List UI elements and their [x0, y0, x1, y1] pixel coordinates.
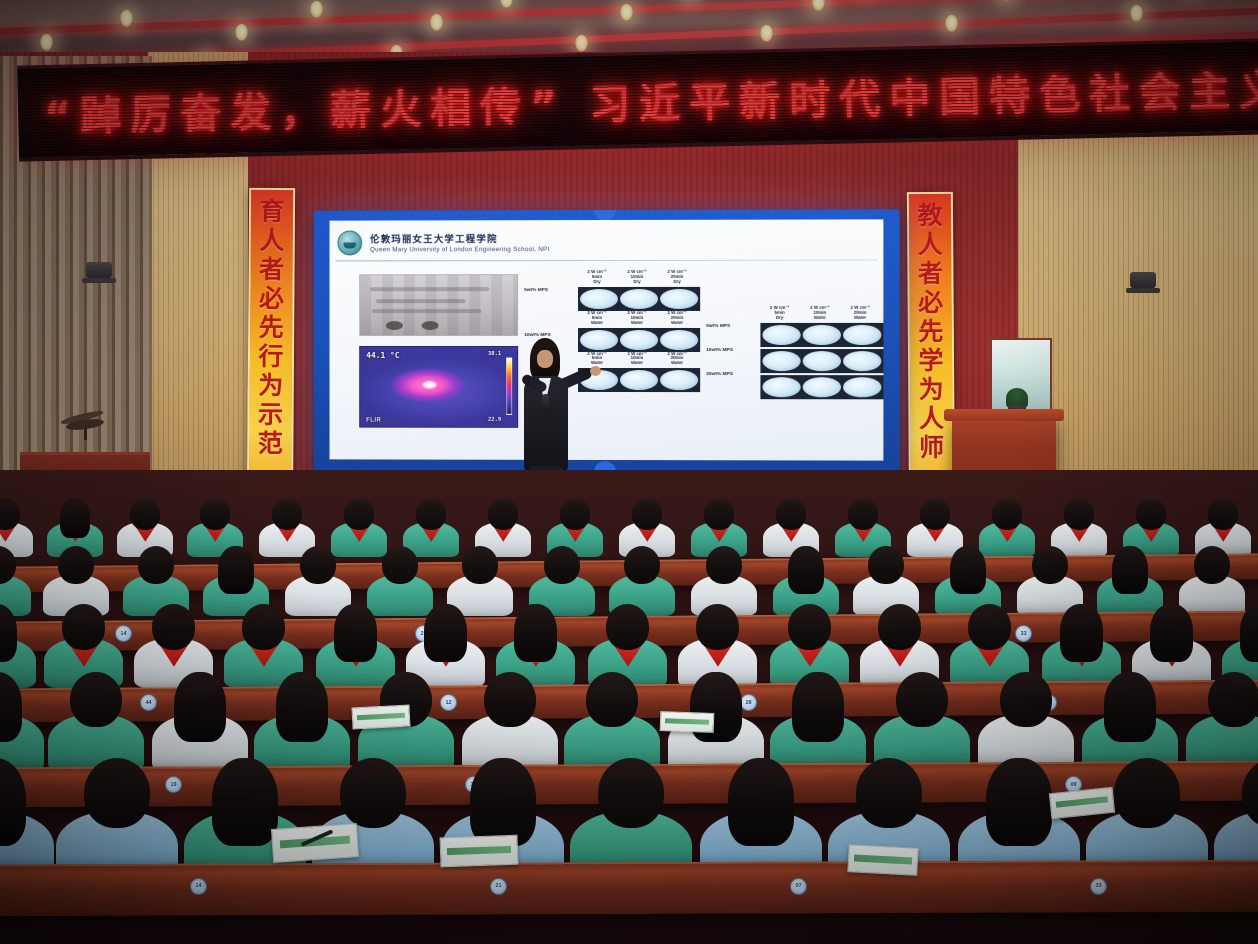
banner-character: 为 [258, 372, 283, 399]
sample-disc [620, 370, 658, 390]
student-head [174, 672, 226, 742]
grid-row-label: 0wt% MPS [524, 288, 548, 293]
flir-watermark: FLIR [366, 418, 381, 424]
student-head [920, 498, 950, 530]
student-head [896, 672, 948, 727]
right-sample-grid: 2 W cm⁻²5minDry2 W cm⁻²10minWater2 W cm⁻… [760, 306, 883, 399]
sample-disc [843, 351, 881, 371]
thermal-scale-min: 22.9 [488, 417, 501, 423]
banner-character: 行 [258, 343, 283, 370]
banner-character: 者 [259, 256, 284, 283]
grid-column-label: 2 W cm⁻²20minWater [841, 306, 879, 321]
student-head [598, 758, 664, 828]
student-head [276, 672, 328, 742]
thermal-temperature-reading: 44.1 °C [366, 351, 399, 360]
banner-character: 先 [259, 314, 284, 341]
sample-disc [762, 377, 800, 397]
student-booklet [351, 704, 410, 729]
grid-column-headers: 2 W cm⁻²5minDry2 W cm⁻²10minWater2 W cm⁻… [760, 306, 883, 321]
student-head [868, 546, 904, 584]
banner-character: 人 [259, 227, 284, 254]
student-head [242, 604, 285, 650]
grid-column-headers: 2 W cm⁻²5minWater2 W cm⁻²10minWater2 W c… [578, 352, 700, 367]
grid-column-headers: 2 W cm⁻²5minDry2 W cm⁻²10minDry2 W cm⁻²2… [578, 270, 700, 285]
thermal-scale-max: 38.1 [488, 351, 501, 357]
student-head [1032, 546, 1068, 584]
student-head [586, 672, 638, 727]
podium-top [944, 409, 1064, 421]
sample-disc [803, 325, 841, 345]
student-head [462, 546, 498, 584]
seat-number-badge: 33 [1090, 878, 1107, 895]
sample-disc [843, 377, 881, 397]
sample-image-strip [578, 287, 700, 311]
banner-character: 先 [918, 318, 943, 345]
student-head [340, 758, 406, 828]
student-head [1194, 546, 1230, 584]
auditorium-desk-row [0, 860, 1258, 917]
sample-disc [660, 370, 698, 390]
student-head [728, 758, 794, 846]
student-head [138, 546, 174, 584]
projection-screen[interactable]: 伦敦玛丽女王大学工程学院 Queen Mary University of Lo… [314, 209, 900, 472]
seat-number-badge: 07 [790, 878, 807, 895]
student-head [344, 498, 374, 530]
student-head [84, 758, 150, 828]
seat-number-badge: 14 [115, 625, 132, 642]
student-head [992, 498, 1022, 530]
student-head [1114, 758, 1180, 828]
sample-disc [580, 289, 618, 309]
ceiling-downlight [235, 24, 248, 41]
ceiling-downlight [120, 10, 133, 27]
auditorium-scene: — “踔厉奋发，薪火相传” 习近平新时代中国特色社会主义思想志愿 育人者必先行为… [0, 0, 1258, 944]
banner-character: 师 [919, 434, 944, 461]
led-banner-text: “踔厉奋发，薪火相传” 习近平新时代中国特色社会主义思想志愿 [43, 51, 1258, 143]
student-head [218, 546, 254, 594]
grid-column-label: 2 W cm⁻²10minDry [618, 270, 656, 285]
sample-disc [803, 377, 841, 397]
presentation-slide: 伦敦玛丽女王大学工程学院 Queen Mary University of Lo… [330, 219, 884, 460]
sample-disc [762, 325, 800, 345]
student-head [334, 604, 377, 662]
student-head [1000, 672, 1052, 727]
student-head [788, 604, 831, 650]
student-head [856, 758, 922, 828]
student-head [300, 546, 336, 584]
student-head [624, 546, 660, 584]
banner-character: 示 [258, 401, 283, 428]
ceiling-downlight [1130, 5, 1143, 22]
student-head [950, 546, 986, 594]
student-head [706, 546, 742, 584]
grid-column-label: 2 W cm⁻²10minWater [618, 311, 656, 326]
grid-column-label: 2 W cm⁻²5minWater [578, 311, 616, 326]
student-head [424, 604, 467, 662]
banner-character: 范 [258, 430, 283, 457]
student-head [272, 498, 302, 530]
student-head [1208, 498, 1238, 530]
sample-disc [660, 330, 698, 350]
student-head [1112, 546, 1148, 594]
sample-disc [803, 351, 841, 371]
student-head [696, 604, 739, 650]
grid-column-label: 2 W cm⁻²10minWater [618, 352, 656, 367]
thermal-camera-image: 44.1 °C 38.1 22.9 FLIR [359, 346, 518, 428]
student-head [488, 498, 518, 530]
seat-number-badge: 14 [190, 878, 207, 895]
student-head [514, 604, 557, 662]
student-head [986, 758, 1052, 846]
student-head [58, 546, 94, 584]
sample-image-strip [578, 328, 700, 352]
microphone-icon [542, 394, 549, 412]
slide-header: 伦敦玛丽女王大学工程学院 Queen Mary University of Lo… [337, 225, 875, 258]
student-head [382, 546, 418, 584]
student-head [848, 498, 878, 530]
student-head [130, 498, 160, 530]
student-head [1208, 672, 1258, 727]
student-head [1064, 498, 1094, 530]
student-booklet [271, 823, 359, 863]
sample-image-strip [760, 375, 883, 399]
student-head [704, 498, 734, 530]
slide-divider [335, 260, 877, 262]
student-head [1104, 672, 1156, 742]
sample-image-strip [760, 349, 883, 373]
student-head [1150, 604, 1193, 662]
banner-character: 学 [918, 347, 943, 374]
student-head [60, 498, 90, 538]
student-head [152, 604, 195, 650]
wall-speaker-icon [86, 262, 112, 278]
student-head [606, 604, 649, 650]
grid-row-label: 0wt% MPS [706, 324, 730, 329]
student-head [776, 498, 806, 530]
banner-character: 人 [919, 405, 944, 432]
banner-character: 育 [259, 198, 284, 225]
student-head [212, 758, 278, 846]
grid-column-headers: 2 W cm⁻²5minWater2 W cm⁻²10minWater2 W c… [578, 311, 700, 326]
banner-character: 必 [918, 289, 943, 316]
student-head [470, 758, 536, 846]
grid-row-label: 10wt% MPS [706, 348, 733, 353]
student-booklet [847, 844, 918, 876]
student-head [792, 672, 844, 742]
student-head [544, 546, 580, 584]
qmul-crest-logo [337, 230, 362, 255]
student-head [70, 672, 122, 727]
ceiling-downlight [575, 35, 588, 52]
student-head [62, 604, 105, 650]
wall-speaker-icon [1130, 272, 1156, 288]
sample-disc [620, 289, 658, 309]
sample-disc [843, 325, 881, 345]
student-head [560, 498, 590, 530]
banner-character: 者 [918, 260, 943, 287]
banner-character: 必 [259, 285, 284, 312]
student-head [878, 604, 921, 650]
student-head [968, 604, 1011, 650]
grid-column-label: 2 W cm⁻²20minDry [658, 270, 696, 285]
student-head [484, 672, 536, 727]
ceiling-downlight [760, 25, 773, 42]
sample-disc [762, 351, 800, 371]
seat-number-badge: 33 [1015, 625, 1032, 642]
sample-image-strip [760, 323, 883, 347]
banner-character: 为 [919, 376, 944, 403]
student-head [200, 498, 230, 530]
student-head [1060, 604, 1103, 662]
grid-column-label: 2 W cm⁻²5minDry [578, 270, 616, 285]
grid-row-label: 20wt% MPS [706, 372, 733, 377]
grid-column-label: 2 W cm⁻²20minWater [658, 311, 696, 326]
seat-number-badge: 19 [165, 776, 182, 793]
bird-sculpture [58, 412, 114, 438]
banner-character: 人 [918, 231, 943, 258]
seat-number-badge: 21 [490, 878, 507, 895]
slide-title-english: Queen Mary University of London Engineer… [370, 246, 550, 253]
student-head [1136, 498, 1166, 530]
student-head [416, 498, 446, 530]
thermal-hotspot [421, 380, 437, 389]
ceiling-downlight [945, 15, 958, 32]
student-booklet [440, 835, 519, 868]
student-booklet [660, 711, 715, 733]
grid-column-label: 2 W cm⁻²10minWater [801, 306, 839, 321]
student-head [788, 546, 824, 594]
sample-disc [660, 289, 698, 309]
student-head [632, 498, 662, 530]
slide-title-chinese: 伦敦玛丽女王大学工程学院 [370, 231, 550, 245]
banner-character: 教 [917, 202, 942, 229]
side-doorway-with-plant [990, 338, 1052, 416]
ceiling-downlight [310, 1, 323, 18]
grid-column-label: 2 W cm⁻²5minDry [760, 306, 798, 321]
grid-column-label: 2 W cm⁻²20minWater [658, 352, 696, 367]
presenter-face [537, 350, 553, 368]
presenter-pointing-hand [590, 366, 601, 376]
ceiling-downlight [430, 14, 443, 31]
ceiling-downlight [40, 34, 53, 51]
ceiling-downlight [620, 4, 633, 21]
sample-photo-panel [359, 274, 518, 336]
sample-disc [620, 330, 658, 350]
